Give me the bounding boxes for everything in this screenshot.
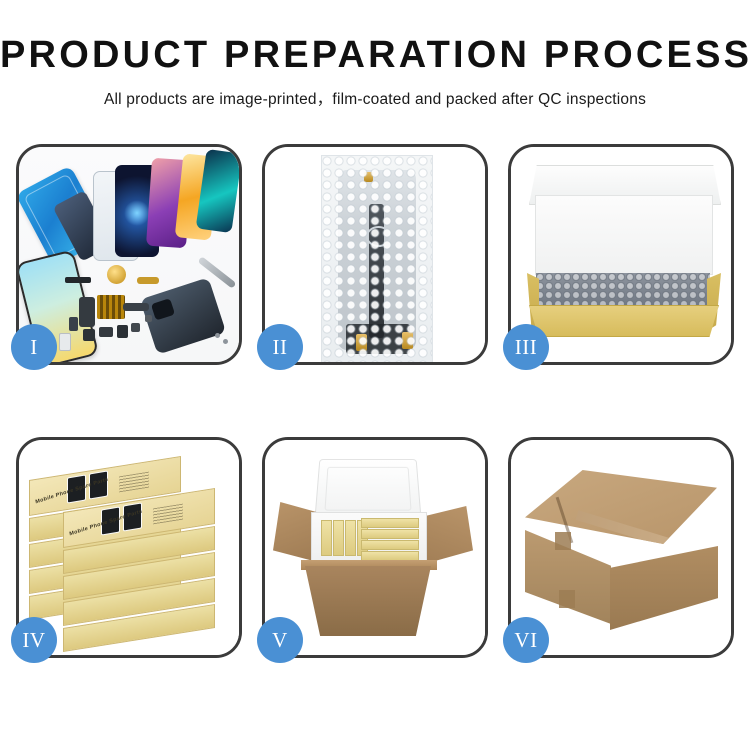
step-badge-3: III	[503, 324, 549, 370]
step-panel-4: Mobile Phone Spare Parts Mobile Phone Sp…	[16, 437, 242, 658]
page-subtitle: All products are image-printed，film-coat…	[0, 87, 750, 109]
small-component-6	[145, 315, 152, 322]
carton-front-panel	[305, 566, 431, 636]
screw-part-1	[215, 333, 220, 338]
flex-cable-part-1	[79, 297, 95, 327]
step-badge-4: IV	[11, 617, 57, 663]
chip-array-part	[97, 295, 125, 319]
small-component-5	[69, 317, 78, 331]
step-badge-5: V	[257, 617, 303, 663]
process-step-grid: I II	[16, 144, 734, 658]
small-component-2	[99, 327, 113, 337]
step-panel-3: III	[508, 144, 734, 365]
carton-tape-tab-2	[559, 590, 575, 608]
inner-yellow-box-h1	[361, 518, 419, 528]
carton-tape-tab-1	[555, 532, 571, 550]
inner-yellow-box-h3	[361, 540, 419, 550]
screw-part-2	[223, 339, 228, 344]
carton-seal-tape	[576, 510, 694, 555]
page-title: PRODUCT PREPARATION PROCESS	[0, 36, 750, 74]
foam-box-lid	[314, 459, 421, 520]
step-badge-2: II	[257, 324, 303, 370]
flex-cable-part-2	[123, 303, 149, 311]
inner-yellow-box-v2	[333, 520, 344, 556]
product-preparation-infographic: PRODUCT PREPARATION PROCESS All products…	[0, 0, 750, 750]
bubble-wrap-bag	[321, 155, 433, 362]
small-component-4	[131, 323, 140, 332]
bubble-wrapped-contents	[536, 273, 710, 309]
small-component-3	[117, 325, 128, 338]
yellow-box-stack: Mobile Phone Spare Parts Mobile Phone Sp…	[23, 454, 237, 650]
inner-yellow-box-v3	[345, 520, 356, 556]
carton-right-face	[610, 546, 718, 630]
step-panel-6: VI	[508, 437, 734, 658]
step-image-5	[265, 440, 485, 655]
bubble-texture	[322, 156, 432, 362]
header: PRODUCT PREPARATION PROCESS All products…	[0, 0, 750, 109]
step-image-6	[511, 440, 731, 655]
step-image-3	[511, 147, 731, 362]
box-front-panel	[529, 305, 719, 337]
carton-top-face	[525, 470, 717, 544]
step-badge-6: VI	[503, 617, 549, 663]
white-component-part	[59, 333, 71, 351]
step-badge-1: I	[11, 324, 57, 370]
gold-connector-part	[137, 277, 159, 284]
step-panel-2: II	[262, 144, 488, 365]
gold-speaker-part	[107, 265, 126, 284]
white-foam-pad	[535, 195, 713, 275]
step-panel-5: V	[262, 437, 488, 658]
phone-back-housing	[140, 277, 226, 354]
step-image-2	[265, 147, 485, 362]
antenna-strip-part	[65, 277, 91, 283]
step-panel-1: I	[16, 144, 242, 365]
inner-yellow-box-h2	[361, 529, 419, 539]
step-image-1	[19, 147, 239, 362]
step-image-4: Mobile Phone Spare Parts Mobile Phone Sp…	[19, 440, 239, 655]
inner-yellow-box-v1	[321, 520, 332, 556]
small-component-1	[83, 329, 95, 341]
